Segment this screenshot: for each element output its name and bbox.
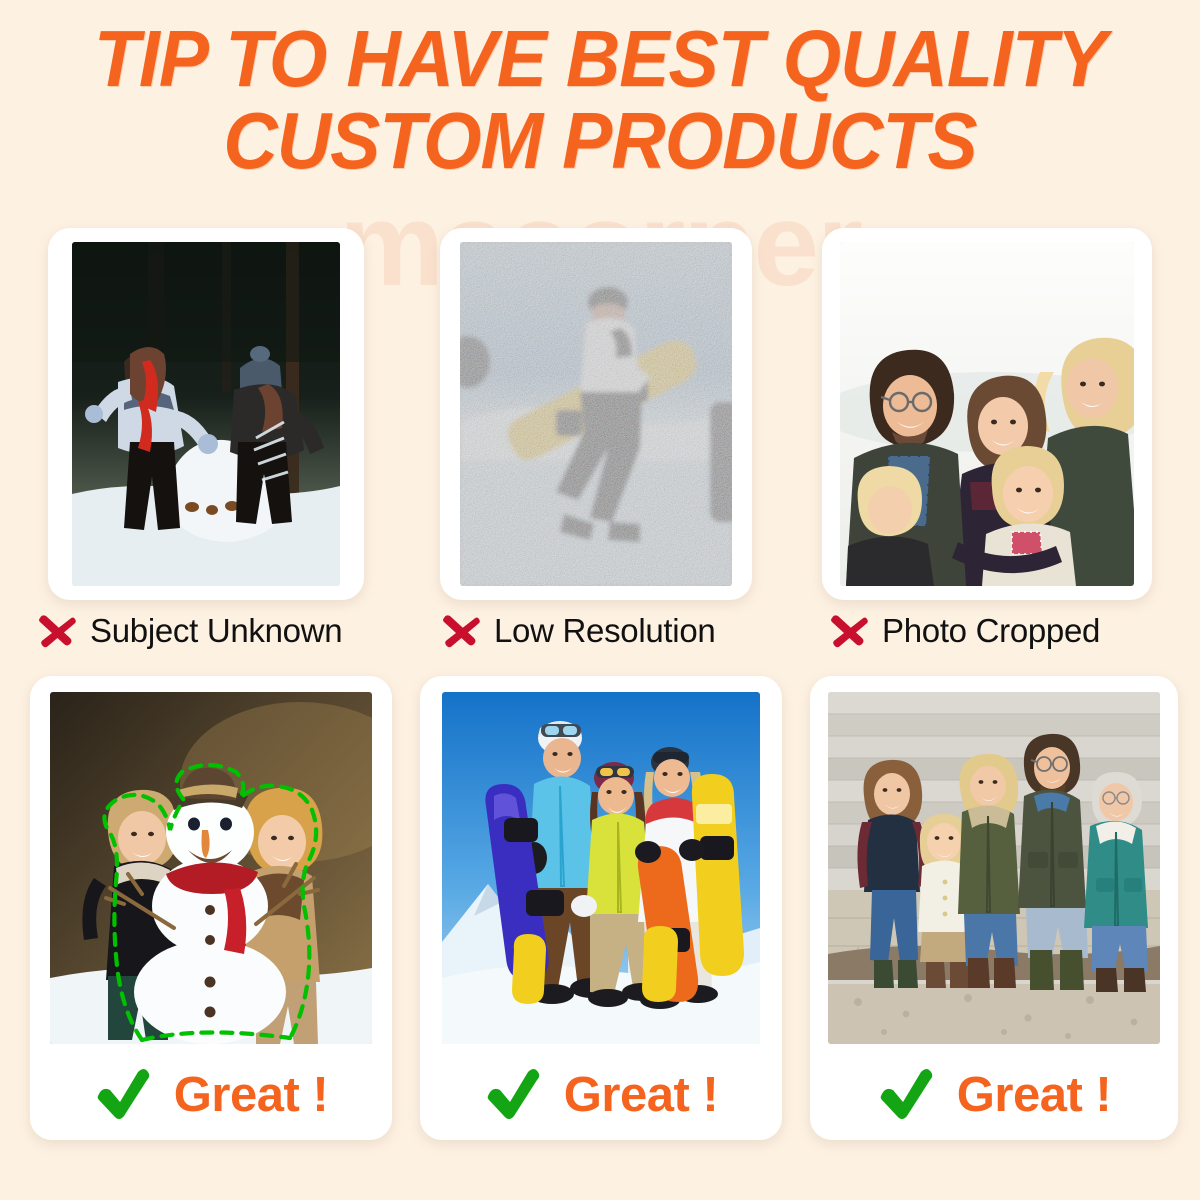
page-title-line-1: TIP TO HAVE BEST QUALITY [36,18,1164,100]
red-x-icon [828,611,868,651]
bad-example-card-subject-unknown[interactable] [48,228,364,600]
bad-example-card-low-resolution[interactable] [440,228,752,600]
bad-label-text: Low Resolution [494,612,715,650]
good-example-card-family[interactable]: Great ! [810,676,1178,1140]
page-title: TIP TO HAVE BEST QUALITY CUSTOM PRODUCTS [0,18,1200,181]
good-label-snowman: Great ! [30,1066,392,1124]
bad-label-text: Subject Unknown [90,612,342,650]
photo-snowman-outlined [50,692,372,1044]
photo-snowboarders [442,692,760,1044]
photo-subject-unknown [72,242,340,586]
red-x-icon [440,611,480,651]
bad-example-card-photo-cropped[interactable] [822,228,1152,600]
bad-label-text: Photo Cropped [882,612,1100,650]
photo-cropped [840,242,1134,586]
good-label-text: Great ! [174,1071,328,1120]
red-x-icon [36,611,76,651]
photo-family-barn [828,692,1160,1044]
good-example-card-snowboarders[interactable]: Great ! [420,676,782,1140]
infographic-root: macorner TIP TO HAVE BEST QUALITY CUSTOM… [0,0,1200,1200]
bad-label-subject-unknown: Subject Unknown [36,608,342,654]
bad-label-photo-cropped: Photo Cropped [828,608,1100,654]
page-title-line-2: CUSTOM PRODUCTS [36,100,1164,182]
good-label-snowboarders: Great ! [420,1066,782,1124]
good-label-family: Great ! [810,1066,1178,1124]
green-check-icon [94,1066,152,1124]
photo-low-resolution [460,242,732,586]
green-check-icon [877,1066,935,1124]
bad-label-low-resolution: Low Resolution [440,608,715,654]
good-example-card-snowman[interactable]: Great ! [30,676,392,1140]
good-label-text: Great ! [957,1071,1111,1120]
good-label-text: Great ! [564,1071,718,1120]
green-check-icon [484,1066,542,1124]
